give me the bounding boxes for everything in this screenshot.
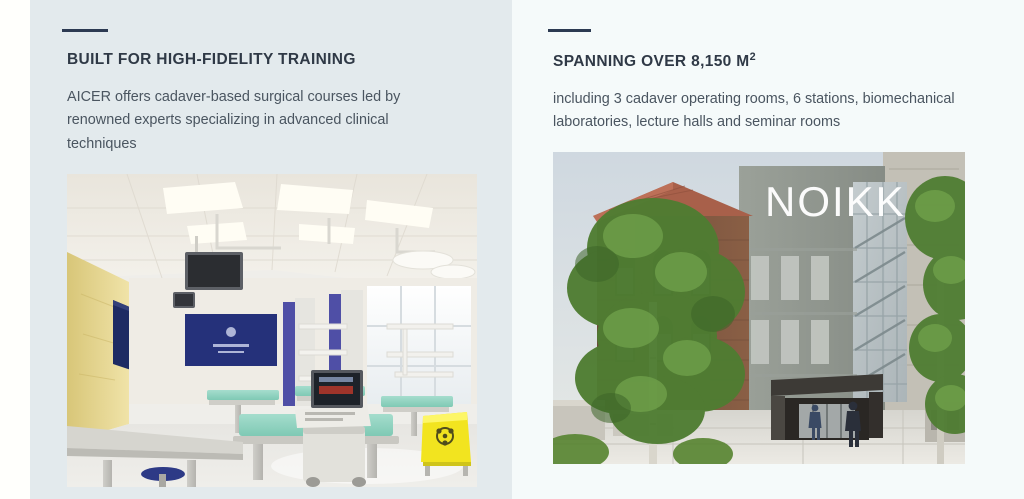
card-body-text: AICER offers cadaver-based surgical cour…	[67, 86, 459, 156]
page-root: BUILT FOR HIGH-FIDELITY TRAINING AICER o…	[0, 0, 1024, 499]
heading-text: SPANNING OVER 8,150 M	[553, 53, 750, 70]
card-body-text-secondary: including 3 cadaver operating rooms, 6 s…	[553, 88, 968, 135]
heading-superscript: 2	[750, 51, 756, 63]
card-training: BUILT FOR HIGH-FIDELITY TRAINING AICER o…	[30, 0, 512, 499]
page-title-secondary: SPANNING OVER 8,150 M2	[553, 51, 1024, 72]
page-title: BUILT FOR HIGH-FIDELITY TRAINING	[67, 51, 512, 70]
accent-rule-right	[548, 29, 591, 32]
noikk-sign-text: NOIKK	[765, 178, 906, 225]
card-facility-size: SPANNING OVER 8,150 M2 including 3 cadav…	[512, 0, 1024, 499]
surgical-training-room-photo	[67, 174, 477, 487]
noikk-building-exterior-photo: NOIKK	[553, 152, 965, 464]
left-gutter	[0, 0, 30, 499]
accent-rule-left	[62, 29, 108, 32]
